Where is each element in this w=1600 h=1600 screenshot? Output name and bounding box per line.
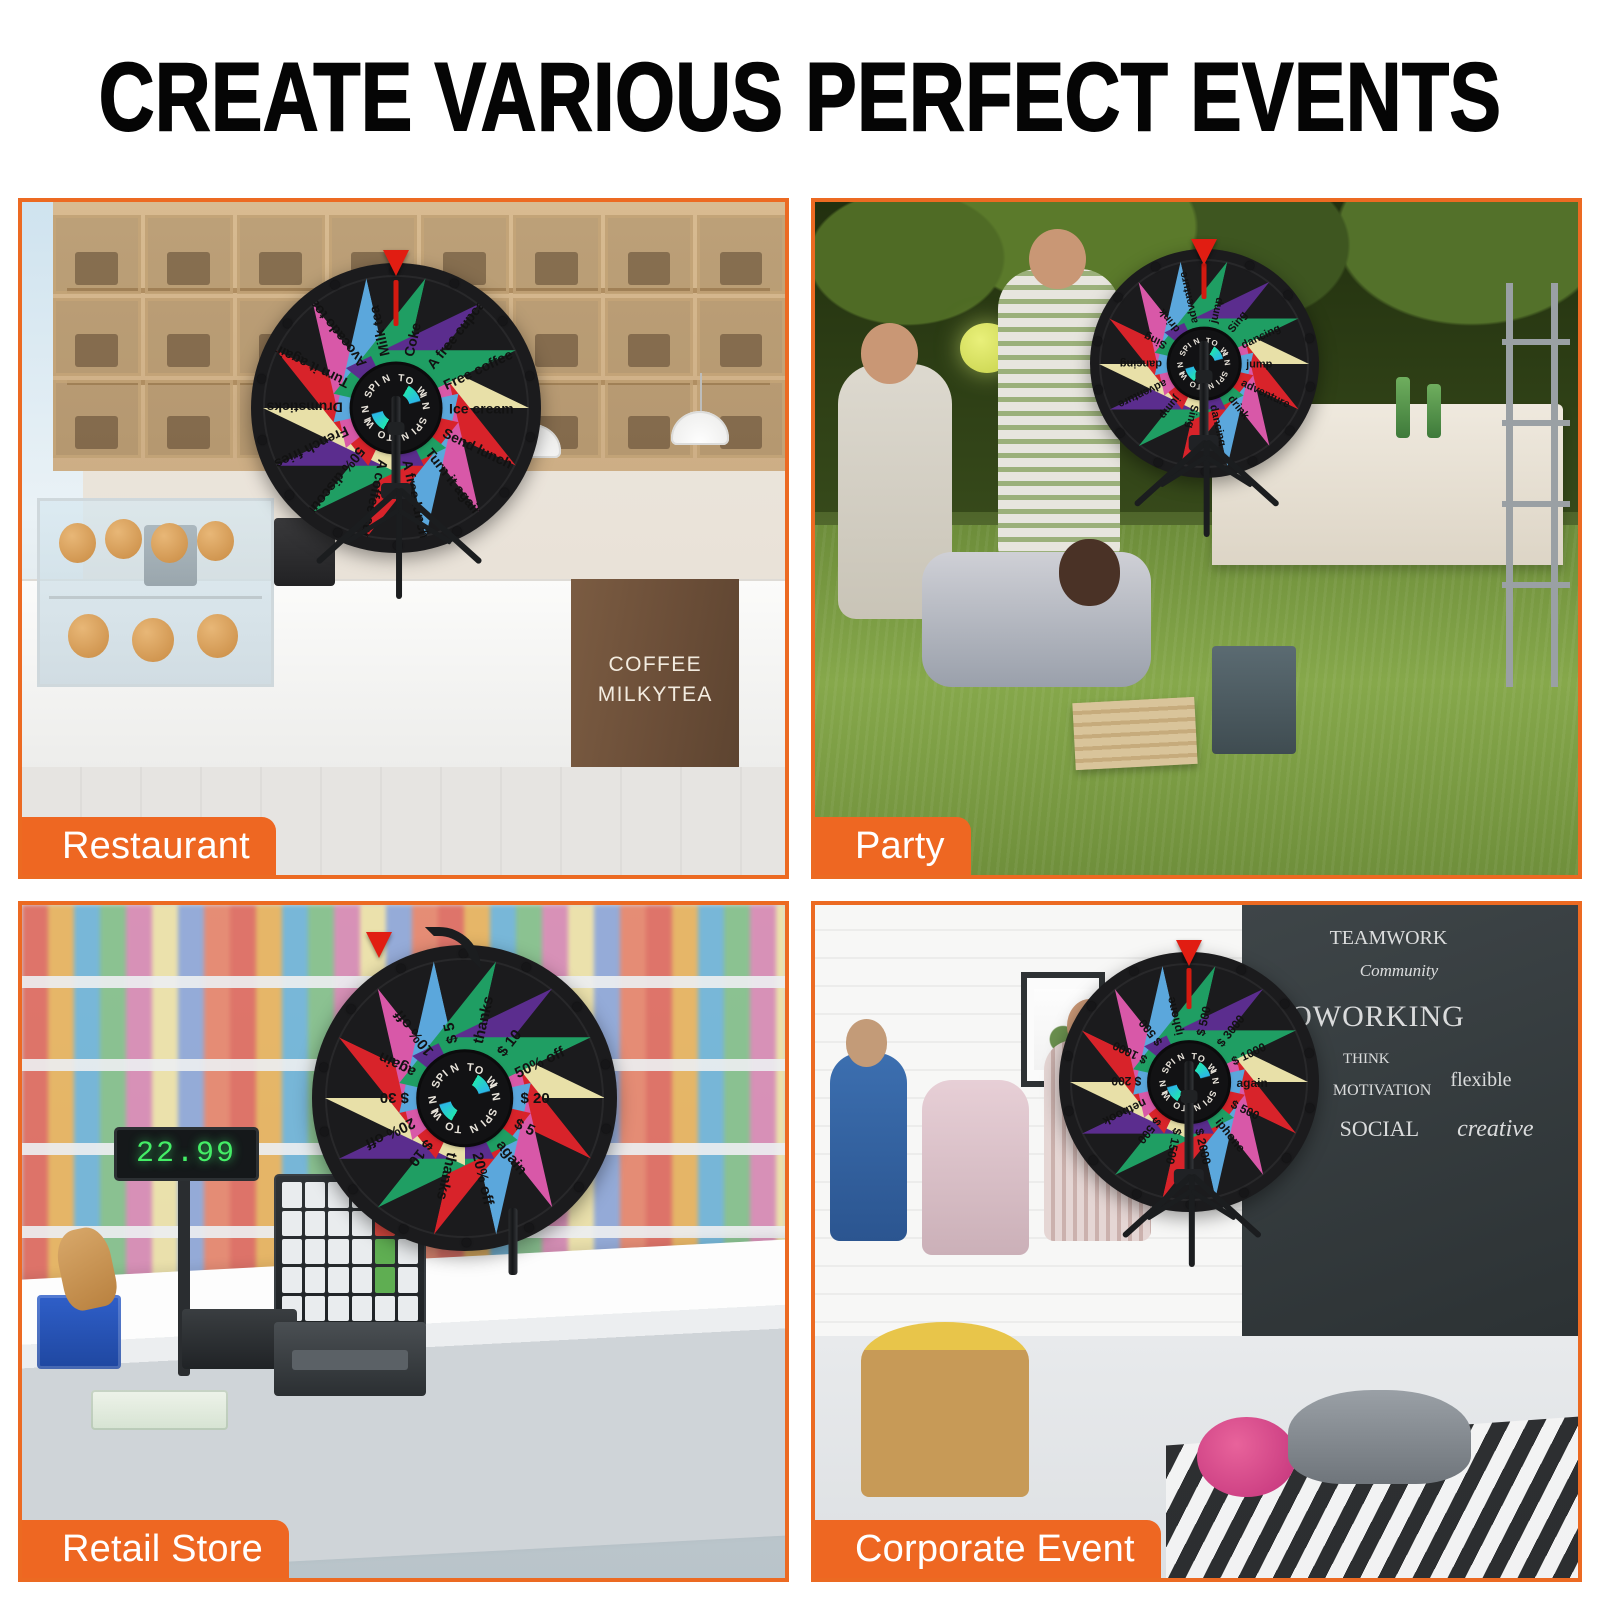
page-title-bar: CREATE VARIOUS PERFECT EVENTS [0,0,1600,196]
height-adjust-knob[interactable] [1180,1090,1197,1103]
coffee-milkytea-sign: COFFEE MILKYTEA [571,579,739,781]
cable-spool-table [861,1322,1029,1497]
knit-pouf [1197,1417,1296,1498]
hub-text-char: N [1222,359,1232,367]
prize-wheel-restaurant[interactable]: CokeA free cupcakeFree coffeeIce creamSe… [251,263,541,553]
badge-corporate-event: Corporate Event [815,1520,1161,1578]
badge-party: Party [815,817,971,875]
prize-wheel-corporate[interactable]: $ 500$ 3000$ 1000again$ 500iphone$ 2000$… [1059,952,1318,1211]
product-collage-page: CREATE VARIOUS PERFECT EVENTS [0,0,1600,1600]
chalk-word: creative [1457,1116,1533,1143]
chalk-word: SOCIAL [1340,1116,1419,1142]
tripod-base [1067,441,1342,487]
sign-line-1: COFFEE [609,653,703,677]
wheel-hub: SPIN TO WINSPIN TO WIN [419,1052,511,1144]
stand-pole-lower [1184,1097,1193,1180]
stand-pole-upper [391,396,400,425]
panel-restaurant[interactable]: COFFEE MILKYTEA CokeA free cupcakeFree c… [18,198,789,879]
height-adjust-knob[interactable] [387,422,404,435]
prize-wheel-retail[interactable]: thanks$ 1050% off$ 20$ 5again20% offthan… [312,945,617,1250]
wheel-disc[interactable]: thanks$ 1050% off$ 20$ 5again20% offthan… [312,945,617,1250]
chalk-word: MOTIVATION [1333,1082,1431,1100]
chalk-word: THINK [1343,1051,1390,1068]
limbo-player-head [1059,539,1120,606]
chalk-word: TEAMWORK [1330,927,1448,950]
triangle-pointer-icon [366,932,392,958]
price-value: 22.99 [136,1137,236,1171]
bottle [1396,377,1410,438]
page-title: CREATE VARIOUS PERFECT EVENTS [99,43,1502,154]
height-adjust-knob[interactable] [1196,370,1213,383]
panel-party[interactable]: jumpSingdancingjumpadventuredrinkdancing… [811,198,1582,879]
tripod-base [1040,1175,1338,1222]
triangle-pointer-icon [1191,239,1217,265]
sign-line-2: MILKYTEA [598,683,713,707]
guest-head [861,323,918,384]
pastry-display-case [37,498,274,686]
stand-pole-lower [509,1208,518,1275]
bean-bag [1288,1390,1471,1484]
hub-text-char: N [1210,1076,1221,1085]
panel-corporate-event[interactable]: TEAMWORK Community COWORKING THINK MOTIV… [811,901,1582,1582]
triangle-pointer-icon [383,250,409,276]
wooden-crate [1073,697,1198,771]
bottle [1427,384,1441,438]
standing-person [830,1053,906,1241]
stand-pole-upper [1184,1061,1193,1092]
stool [1212,646,1296,754]
triangle-pointer-icon [1176,940,1202,966]
cash-drawer [274,1322,427,1396]
stand-pole-upper [1200,341,1209,373]
prize-wheel-party[interactable]: jumpSingdancingjumpadventuredrinkdancing… [1090,249,1319,478]
scene-grid: COFFEE MILKYTEA CokeA free cupcakeFree c… [18,198,1582,1582]
pointer-stem [393,280,398,326]
pointer-stem [1186,968,1191,1010]
price-display: 22.99 [114,1127,259,1181]
badge-restaurant: Restaurant [22,817,276,875]
chalk-word: flexible [1450,1069,1511,1092]
hub-text-char: N [419,401,431,411]
egg-carton [91,1390,228,1430]
panel-retail-store[interactable]: 22.99 [18,901,789,1582]
person-head [846,1019,888,1066]
seated-person [922,1080,1029,1255]
hub-text-char: N [489,1092,502,1102]
chalk-word: Community [1360,961,1438,981]
badge-retail-store: Retail Store [22,1520,289,1578]
pointer-stem [1202,263,1207,300]
ladder [1502,283,1571,687]
tripod-base [251,489,541,553]
guest-head [1029,229,1086,290]
